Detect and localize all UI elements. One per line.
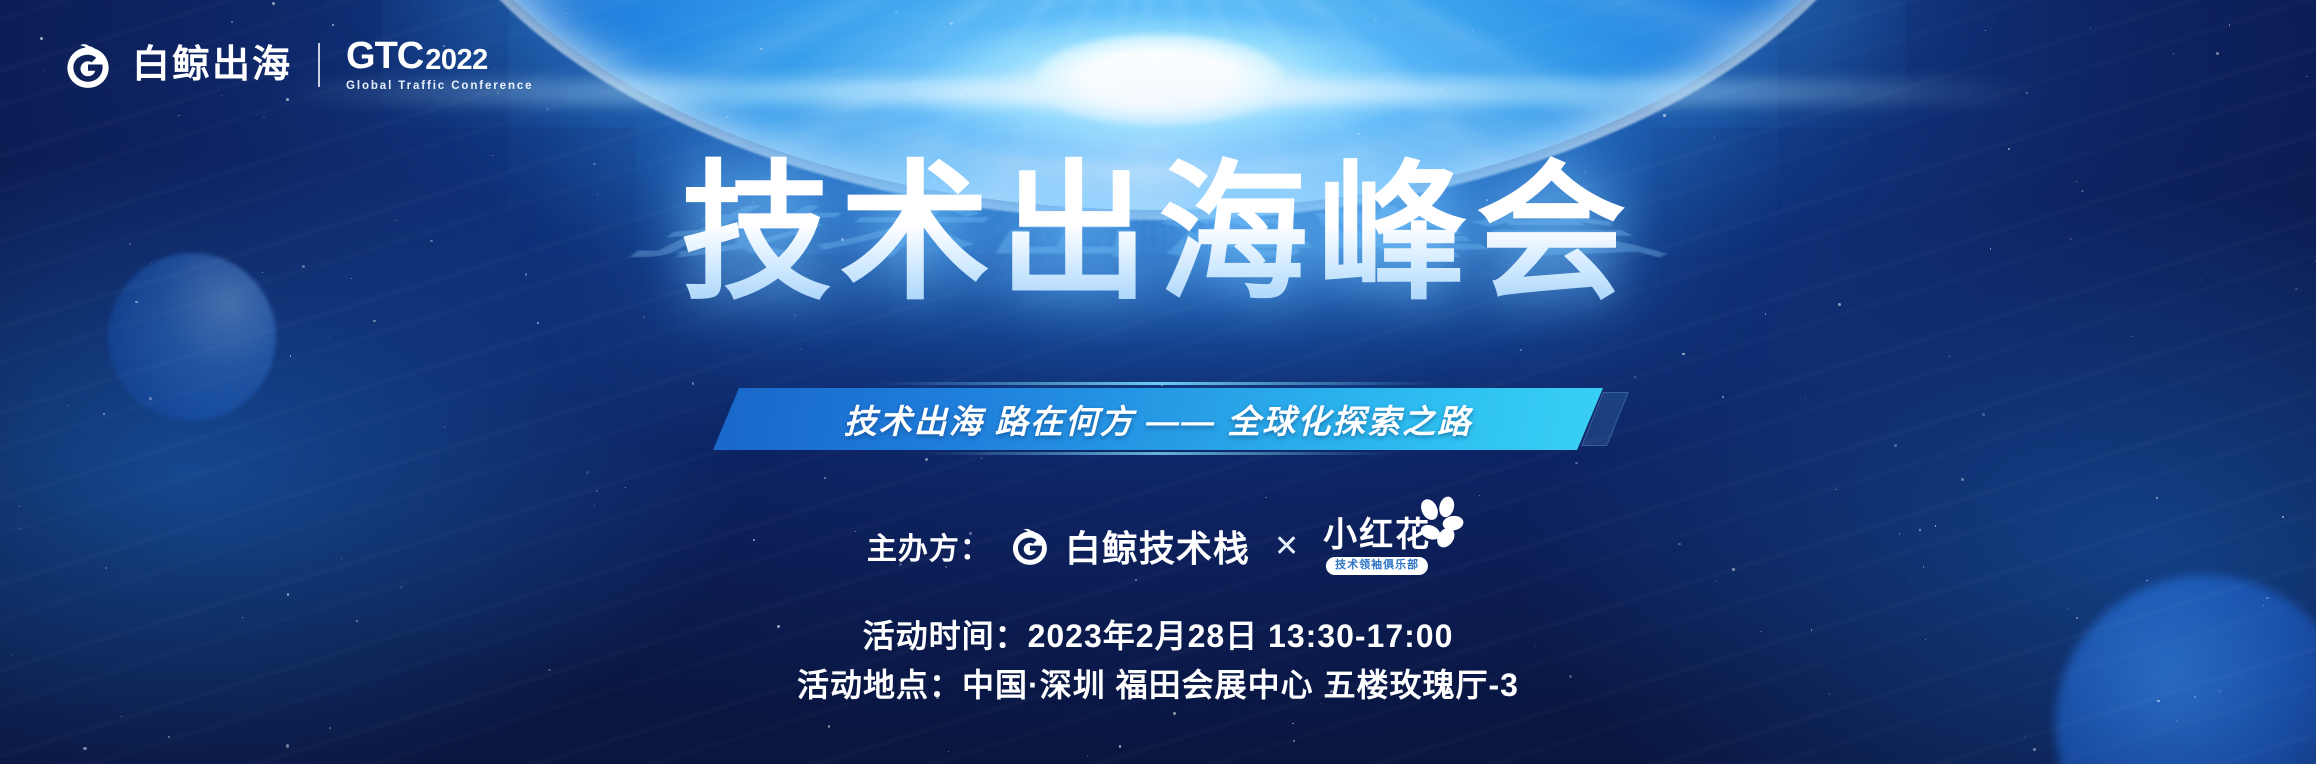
star-dot: [332, 24, 334, 26]
star-dot: [1293, 740, 1295, 742]
gtc-logo-top: GTC 2022: [346, 38, 488, 74]
star-dot: [1173, 712, 1176, 715]
star-dot: [287, 593, 290, 596]
star-dot: [753, 539, 755, 541]
organizer-secondary: 小红花 技术领袖俱乐部: [1323, 518, 1449, 575]
star-dot: [272, 2, 275, 5]
star-dot: [1829, 693, 1831, 695]
star-dot: [1732, 568, 1735, 571]
band-accent-line-top: [878, 382, 1438, 385]
star-dot: [1760, 631, 1761, 632]
subtitle-text: 技术出海 路在何方 —— 全球化探索之路: [844, 395, 1473, 443]
event-banner: 白鲸出海 GTC 2022 Global Traffic Conference …: [0, 0, 2316, 764]
organizer-primary: 白鲸技术栈: [1007, 520, 1250, 572]
gtc-wordmark: GTC: [346, 38, 423, 74]
whale-g-icon: [1007, 523, 1053, 569]
star-dot: [356, 620, 358, 622]
star-dot: [1715, 580, 1717, 582]
star-dot: [546, 108, 549, 111]
star-dot: [43, 70, 44, 71]
event-details: 活动时间：2023年2月28日 13:30-17:00 活动地点：中国·深圳 福…: [797, 612, 1519, 709]
hero-title-block: 技术出海峰会 技术出海峰会: [0, 112, 2316, 329]
star-dot: [221, 95, 222, 96]
flower-icon: [1405, 496, 1465, 554]
star-dot: [121, 716, 122, 717]
star-dot: [1909, 580, 1910, 581]
star-dot: [1479, 495, 1480, 496]
star-dot: [83, 747, 86, 750]
star-dot: [2030, 484, 2031, 485]
organizer-primary-name: 白鲸技术栈: [1065, 520, 1250, 572]
star-dot: [1135, 579, 1137, 581]
organizer-label: 主办方：: [867, 524, 991, 568]
star-dot: [1811, 629, 1812, 630]
star-dot: [1292, 723, 1293, 724]
brand-bar: 白鲸出海 GTC 2022 Global Traffic Conference: [60, 36, 533, 94]
star-dot: [777, 625, 780, 628]
star-dot: [168, 736, 170, 738]
star-dot: [400, 586, 402, 588]
star-dot: [1923, 566, 1924, 567]
brand-name-cn: 白鲸出海: [132, 46, 292, 84]
star-dot: [329, 727, 331, 729]
organizer-row: 主办方： 白鲸技术栈 ✕: [867, 518, 1449, 575]
star-dot: [948, 751, 949, 752]
decorative-sphere-right: [2055, 575, 2316, 764]
star-dot: [2076, 617, 2078, 619]
star-dot: [625, 487, 626, 488]
star-dot: [880, 502, 881, 503]
star-dot: [242, 617, 243, 618]
band-accent-line-bottom: [923, 452, 1393, 455]
star-dot: [1265, 497, 1267, 499]
star-dot: [2024, 736, 2025, 737]
whale-g-icon: [60, 37, 116, 93]
star-dot: [341, 558, 342, 559]
star-dot: [20, 528, 21, 529]
star-dot: [1935, 525, 1936, 526]
star-dot: [1535, 646, 1536, 647]
star-dot: [1985, 30, 1986, 31]
star-dot: [2229, 24, 2230, 25]
star-dot: [1961, 478, 1964, 481]
star-dot: [19, 506, 20, 507]
star-dot: [1087, 755, 1088, 756]
organizer-separator-icon: ✕: [1274, 529, 1299, 564]
event-time: 活动时间：2023年2月28日 13:30-17:00: [797, 612, 1519, 661]
gtc-logo: GTC 2022 Global Traffic Conference: [346, 38, 533, 91]
star-dot: [2068, 608, 2069, 609]
brand-divider: [318, 43, 320, 87]
star-dot: [1119, 745, 1121, 747]
star-dot: [2033, 748, 2035, 750]
star-dot: [2194, 43, 2195, 44]
gtc-tagline: Global Traffic Conference: [346, 80, 533, 92]
gtc-year: 2022: [425, 47, 488, 75]
star-dot: [2306, 76, 2308, 78]
star-dot: [286, 744, 289, 747]
star-dot: [2146, 580, 2147, 581]
star-dot: [1678, 543, 1681, 546]
star-dot: [548, 669, 551, 672]
star-dot: [40, 37, 43, 40]
subtitle-band: 技术出海 路在何方 —— 全球化探索之路: [713, 388, 1603, 450]
star-dot: [1919, 529, 1921, 531]
star-dot: [2173, 53, 2174, 54]
star-dot: [828, 725, 830, 727]
star-dot: [1925, 639, 1926, 640]
star-dot: [1569, 675, 1572, 678]
star-dot: [596, 490, 598, 492]
star-dot: [855, 531, 856, 532]
star-dot: [1835, 489, 1836, 490]
star-dot: [231, 21, 233, 23]
star-dot: [1899, 533, 1900, 534]
star-dot: [2282, 516, 2284, 518]
organizer-secondary-tagline: 技术领袖俱乐部: [1326, 557, 1428, 575]
star-dot: [2216, 52, 2219, 55]
star-dot: [12, 654, 14, 656]
hero-title: 技术出海峰会: [681, 112, 1635, 329]
star-dot: [2156, 497, 2158, 499]
star-dot: [105, 567, 107, 569]
star-dot: [2090, 27, 2091, 28]
star-dot: [594, 505, 595, 506]
event-place: 活动地点：中国·深圳 福田会展中心 五楼玫瑰厅-3: [797, 661, 1519, 710]
